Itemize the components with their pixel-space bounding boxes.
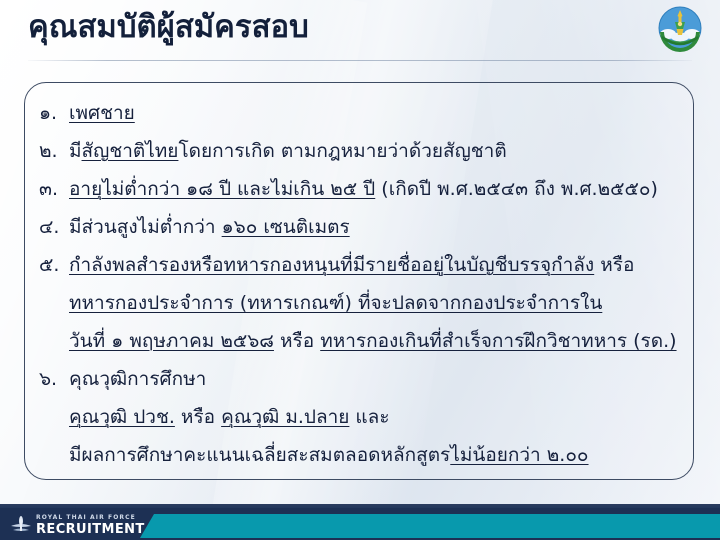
qualification-item: ๓.อายุไม่ต่ำกว่า ๑๘ ปี และไม่เกิน ๒๕ ปี … [39, 171, 679, 208]
qualification-number: ๔. [39, 209, 69, 246]
underlined-text-segment: กำลังพลสำรองหรือทหารกองหนุนที่มีรายชื่ออ… [69, 254, 594, 276]
qualification-item: ๒.มีสัญชาติไทยโดยการเกิด ตามกฎหมายว่าด้ว… [39, 133, 679, 170]
slide-footer: ROYAL THAI AIR FORCE RECRUITMENT [0, 508, 720, 540]
qualification-text-body: คุณวุฒิการศึกษา [69, 361, 679, 398]
qualification-line: วันที่ ๑ พฤษภาคม ๒๕๖๘ หรือ ทหารกองเกินที… [69, 323, 679, 360]
qualification-number: ๑. [39, 95, 69, 132]
footer-teal-bar [140, 514, 720, 538]
qualification-text-body: เพศชาย [69, 95, 679, 132]
qualification-line: มีผลการศึกษาคะแนนเฉลี่ยสะสมตลอดหลักสูตรไ… [69, 437, 679, 474]
underlined-text-segment: สัญชาติไทย [82, 140, 179, 162]
qualification-text-body: คุณวุฒิ ปวช. หรือ คุณวุฒิ ม.ปลาย และ [69, 399, 679, 436]
qualification-line: ทหารกองประจำการ (ทหารเกณฑ์) ที่จะปลดจากก… [69, 285, 679, 322]
qualification-item: ๑.เพศชาย [39, 95, 679, 132]
text-segment: (เกิดปี พ.ศ.๒๕๔๓ ถึง พ.ศ.๒๕๕๐) [375, 178, 658, 200]
page-title: คุณสมบัติผู้สมัครสอบ [28, 6, 309, 48]
text-segment: หรือ [175, 406, 221, 428]
underlined-text-segment: อายุไม่ต่ำกว่า ๑๘ ปี และไม่เกิน ๒๕ ปี [69, 178, 375, 200]
text-segment: มีผลการศึกษาคะแนนเฉลี่ยสะสมตลอดหลักสูตร [69, 444, 450, 466]
text-segment: หรือ [274, 330, 320, 352]
slide-header: คุณสมบัติผู้สมัครสอบ [0, 0, 720, 66]
underlined-text-segment: ทหารกองเกินที่สำเร็จการฝึกวิชาทหาร (รด.) [320, 330, 676, 352]
qualification-subline: ทหารกองประจำการ (ทหารเกณฑ์) ที่จะปลดจากก… [39, 285, 679, 322]
qualification-number: ๖. [39, 361, 69, 398]
underlined-text-segment: ไม่น้อยกว่า ๒.๐๐ [450, 444, 588, 466]
footer-brand-subtitle: ROYAL THAI AIR FORCE [36, 514, 156, 522]
qualification-text-body: มีสัญชาติไทยโดยการเกิด ตามกฎหมายว่าด้วยส… [69, 133, 679, 170]
underlined-text-segment: ทหารกองประจำการ (ทหารเกณฑ์) ที่จะปลดจากก… [69, 292, 602, 314]
rtaf-garuda-wing-mark-icon [8, 512, 34, 538]
qualification-line: อายุไม่ต่ำกว่า ๑๘ ปี และไม่เกิน ๒๕ ปี (เ… [69, 171, 679, 208]
qualification-line: มีส่วนสูงไม่ต่ำกว่า ๑๖๐ เซนติเมตร [69, 209, 679, 246]
qualifications-list: ๑.เพศชาย๒.มีสัญชาติไทยโดยการเกิด ตามกฎหม… [25, 83, 693, 475]
qualification-subline: มีผลการศึกษาคะแนนเฉลี่ยสะสมตลอดหลักสูตรไ… [39, 437, 679, 474]
slide-root: คุณสมบัติผู้สมัครสอบ ๑.เพศชาย๒.มีสัญชาติ… [0, 0, 720, 540]
underlined-text-segment: ๑๖๐ เซนติเมตร [222, 216, 350, 238]
qualification-number: ๒. [39, 133, 69, 170]
qualification-text-body: ทหารกองประจำการ (ทหารเกณฑ์) ที่จะปลดจากก… [69, 285, 679, 322]
qualification-item: ๔.มีส่วนสูงไม่ต่ำกว่า ๑๖๐ เซนติเมตร [39, 209, 679, 246]
qualification-text-body: มีผลการศึกษาคะแนนเฉลี่ยสะสมตลอดหลักสูตรไ… [69, 437, 679, 474]
qualification-number: ๓. [39, 171, 69, 208]
text-segment: และ [349, 406, 389, 428]
underlined-text-segment: เพศชาย [69, 102, 135, 124]
qualification-line: คุณวุฒิการศึกษา [69, 361, 679, 398]
qualification-subline: คุณวุฒิ ปวช. หรือ คุณวุฒิ ม.ปลาย และ [39, 399, 679, 436]
text-segment: มีส่วนสูงไม่ต่ำกว่า [69, 216, 222, 238]
qualification-item: ๖.คุณวุฒิการศึกษา [39, 361, 679, 398]
underlined-text-segment: วันที่ ๑ พฤษภาคม ๒๕๖๘ [69, 330, 274, 352]
footer-brand-title: RECRUITMENT [36, 522, 156, 537]
qualification-line: เพศชาย [69, 95, 679, 132]
footer-brand: ROYAL THAI AIR FORCE RECRUITMENT [36, 514, 156, 537]
qualification-line: คุณวุฒิ ปวช. หรือ คุณวุฒิ ม.ปลาย และ [69, 399, 679, 436]
qualification-line: มีสัญชาติไทยโดยการเกิด ตามกฎหมายว่าด้วยส… [69, 133, 679, 170]
qualification-subline: วันที่ ๑ พฤษภาคม ๒๕๖๘ หรือ ทหารกองเกินที… [39, 323, 679, 360]
text-segment: คุณวุฒิการศึกษา [69, 368, 206, 390]
text-segment: โดยการเกิด ตามกฎหมายว่าด้วยสัญชาติ [178, 140, 506, 162]
underlined-text-segment: คุณวุฒิ ม.ปลาย [221, 406, 349, 428]
royal-thai-air-force-emblem-icon [654, 4, 706, 56]
qualification-text-body: มีส่วนสูงไม่ต่ำกว่า ๑๖๐ เซนติเมตร [69, 209, 679, 246]
qualification-number: ๕. [39, 247, 69, 284]
text-segment: หรือ [594, 254, 634, 276]
qualification-text-body: วันที่ ๑ พฤษภาคม ๒๕๖๘ หรือ ทหารกองเกินที… [69, 323, 679, 360]
qualification-item: ๕.กำลังพลสำรองหรือทหารกองหนุนที่มีรายชื่… [39, 247, 679, 284]
underlined-text-segment: คุณวุฒิ ปวช. [69, 406, 175, 428]
qualification-line: กำลังพลสำรองหรือทหารกองหนุนที่มีรายชื่ออ… [69, 247, 679, 284]
header-divider [28, 60, 692, 61]
qualification-text-body: กำลังพลสำรองหรือทหารกองหนุนที่มีรายชื่ออ… [69, 247, 679, 284]
text-segment: มี [69, 140, 82, 162]
qualifications-card: ๑.เพศชาย๒.มีสัญชาติไทยโดยการเกิด ตามกฎหม… [24, 82, 694, 480]
qualification-text-body: อายุไม่ต่ำกว่า ๑๘ ปี และไม่เกิน ๒๕ ปี (เ… [69, 171, 679, 208]
